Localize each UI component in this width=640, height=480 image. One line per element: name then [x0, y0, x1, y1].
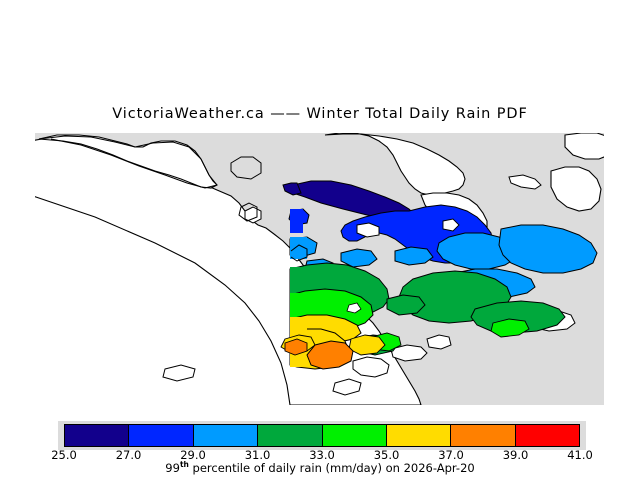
contour-band-29-31-islet	[395, 247, 433, 265]
land-sliver-mid	[509, 175, 541, 189]
colorbar[interactable]	[64, 424, 580, 447]
colorbar-segment-6[interactable]	[451, 425, 515, 446]
colorbar-caption: 99th percentile of daily rain (mm/day) o…	[0, 460, 640, 475]
colorbar-segment-2[interactable]	[194, 425, 258, 446]
colorbar-segment-3[interactable]	[258, 425, 322, 446]
caption-superscript: th	[180, 460, 189, 469]
map-canvas[interactable]	[35, 133, 604, 405]
land-ne-island-2	[551, 167, 601, 211]
contour-band-33-35-east	[491, 319, 529, 337]
weather-map-page: VictoriaWeather.ca —— Winter Total Daily…	[0, 0, 640, 480]
coast-inner-bay	[231, 157, 261, 179]
colorbar-segment-0[interactable]	[65, 425, 129, 446]
page-title: VictoriaWeather.ca —— Winter Total Daily…	[0, 106, 640, 122]
colorbar-segment-5[interactable]	[387, 425, 451, 446]
colorbar-segment-1[interactable]	[129, 425, 193, 446]
land-south-islet-c	[427, 335, 451, 349]
land-ne-island	[565, 133, 604, 159]
contour-band-29-31-islet2	[341, 249, 377, 267]
map-panel[interactable]	[35, 133, 604, 405]
colorbar-segment-7[interactable]	[516, 425, 579, 446]
contour-band-29-31-east2	[499, 225, 597, 273]
caption-prefix: 99	[165, 461, 180, 475]
colorbar-segment-4[interactable]	[323, 425, 387, 446]
caption-rest: percentile of daily rain (mm/day) on 202…	[189, 461, 475, 475]
contour-band-27-29-leftedge	[290, 209, 303, 233]
